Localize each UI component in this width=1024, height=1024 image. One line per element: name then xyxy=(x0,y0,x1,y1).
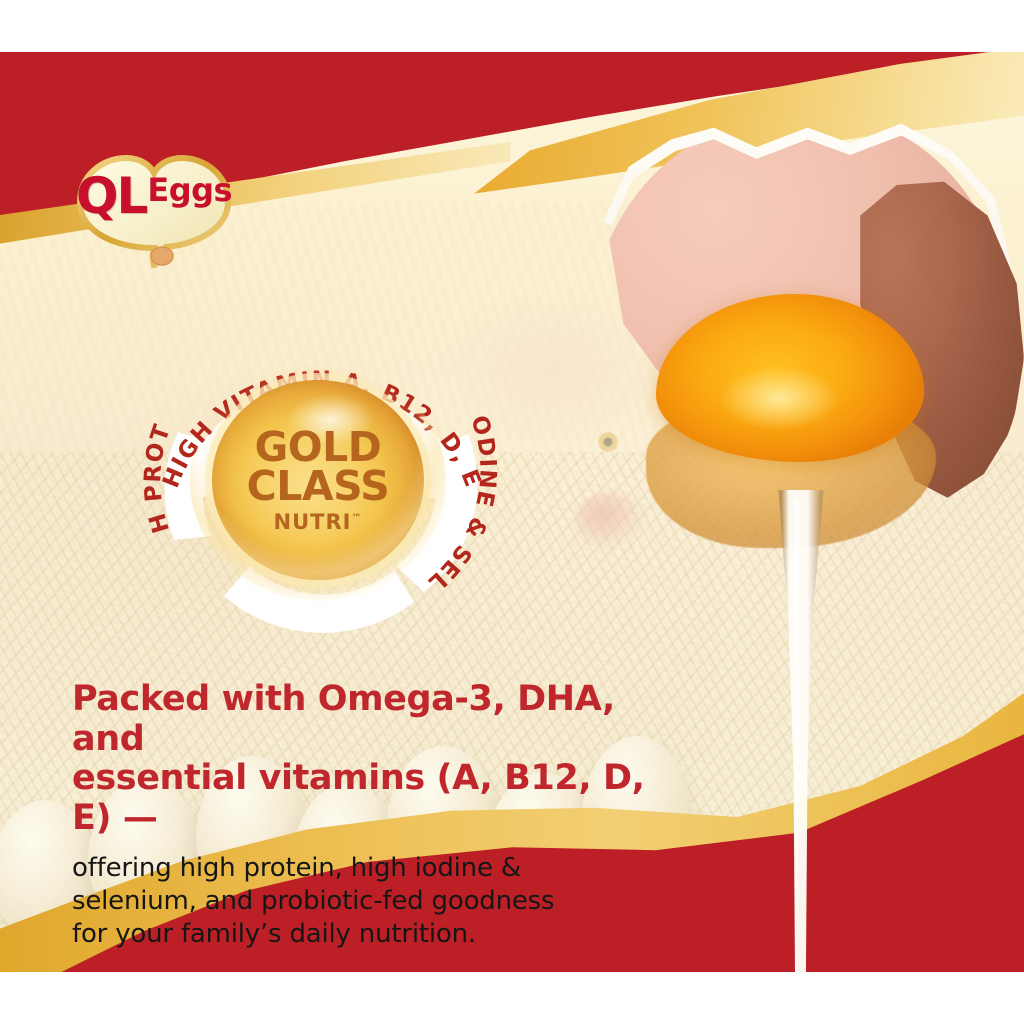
badge-wordmark: GOLD CLASS NUTRI™ xyxy=(212,396,424,566)
poster-canvas: QL Eggs xyxy=(0,0,1024,1024)
headline: Packed with Omega-3, DHA, and essential … xyxy=(72,680,672,838)
gold-class-nutri-badge: HIGH VITAMIN A, B12, D, E HIGH PROTEIN H… xyxy=(128,304,516,642)
trademark-symbol: ™ xyxy=(351,513,362,524)
headline-line-2: essential vitamins (A, B12, D, E) — xyxy=(72,759,672,838)
body-line-2: selenium, and probiotic-fed goodness xyxy=(72,885,672,918)
marketing-copy-block: Packed with Omega-3, DHA, and essential … xyxy=(72,680,672,950)
badge-title-class: CLASS xyxy=(247,467,390,506)
body-line-3: for your family’s daily nutrition. xyxy=(72,918,672,951)
badge-subtitle-nutri: NUTRI™ xyxy=(274,510,363,534)
logo-text-group: QL Eggs xyxy=(70,144,238,248)
headline-line-1: Packed with Omega-3, DHA, and xyxy=(72,680,672,759)
badge-title-gold: GOLD xyxy=(255,428,382,467)
body-paragraph: offering high protein, high iodine & sel… xyxy=(72,852,672,950)
logo-eggs-text: Eggs xyxy=(147,174,232,206)
logo-egg-dot xyxy=(151,247,173,265)
body-line-1: offering high protein, high iodine & xyxy=(72,852,672,885)
banner-red-background: QL Eggs xyxy=(0,52,1024,972)
egg-white-drip xyxy=(774,490,828,972)
ql-eggs-logo[interactable]: QL Eggs xyxy=(70,144,238,268)
logo-ql-text: QL xyxy=(76,171,146,221)
badge-nutri-text: NUTRI xyxy=(274,510,352,534)
